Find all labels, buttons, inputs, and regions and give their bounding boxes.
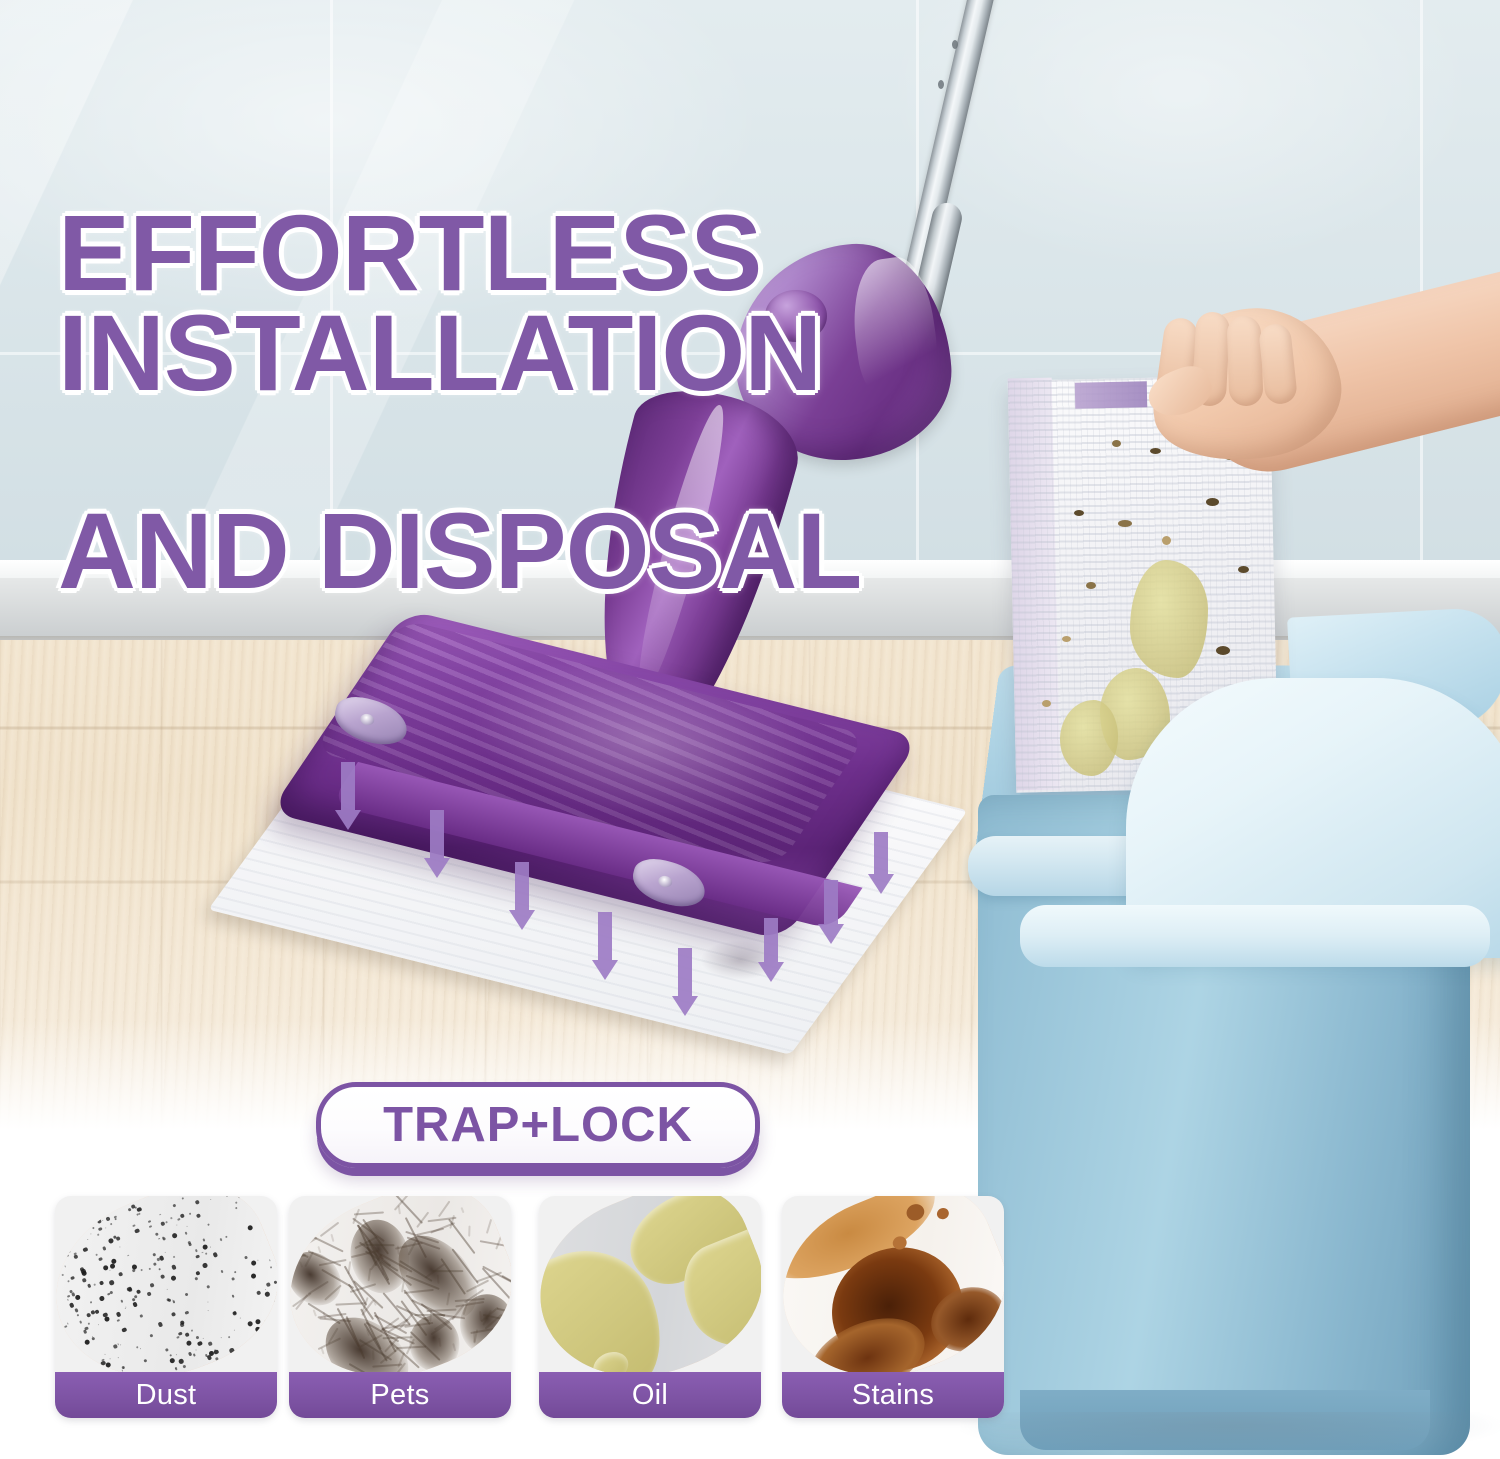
down-arrow-icon: [868, 832, 894, 894]
dirt-card-label-text: Pets: [370, 1379, 429, 1412]
trash-can-lid-collar: [1020, 905, 1490, 967]
dirt-card-label-text: Stains: [852, 1379, 934, 1412]
handle-adjust-hole: [938, 80, 944, 89]
dirt-card-label: Oil: [539, 1372, 761, 1418]
trash-can-floor-shadow: [960, 1412, 1500, 1458]
trap-lock-badge: TRAP+LOCK: [316, 1082, 760, 1168]
dirt-card-pets: Pets: [289, 1196, 511, 1418]
down-arrow-icon: [509, 862, 535, 930]
handle-adjust-hole: [952, 40, 958, 49]
headline-line-2: AND DISPOSAL: [58, 501, 1417, 600]
down-arrow-icon: [818, 880, 844, 944]
dirt-card-label: Stains: [782, 1372, 1004, 1418]
dirt-type-card-row: Dust Pets Oil: [55, 1196, 1015, 1421]
dirt-card-stains: Stains: [782, 1196, 1004, 1418]
product-marketing-image: EFFORTLESS INSTALLATION AND DISPOSAL TRA…: [0, 0, 1500, 1459]
dirt-card-oil: Oil: [539, 1196, 761, 1418]
headline-line-1: EFFORTLESS INSTALLATION: [58, 203, 1417, 402]
trap-lock-badge-label: TRAP+LOCK: [383, 1097, 693, 1153]
pad-debris-speck: [1042, 700, 1051, 707]
down-arrow-icon: [592, 912, 618, 980]
pad-oil-stain: [1060, 700, 1118, 776]
dirt-card-label-text: Oil: [632, 1379, 668, 1412]
down-arrow-icon: [758, 918, 784, 982]
page-title: EFFORTLESS INSTALLATION AND DISPOSAL: [58, 104, 1377, 700]
dirt-card-label: Dust: [55, 1372, 277, 1418]
down-arrow-icon: [424, 810, 450, 878]
down-arrow-icon: [672, 948, 698, 1016]
down-arrow-icon: [335, 762, 361, 830]
dirt-card-dust: Dust: [55, 1196, 277, 1418]
dirt-card-label: Pets: [289, 1372, 511, 1418]
dirt-card-label-text: Dust: [136, 1379, 197, 1412]
